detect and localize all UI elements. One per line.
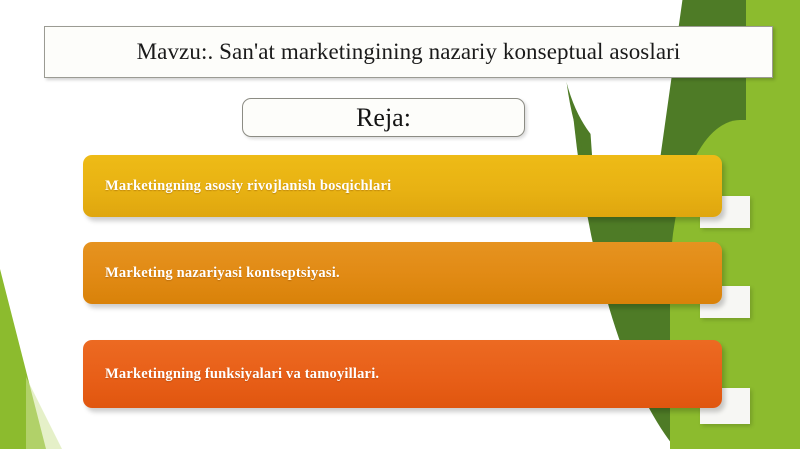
agenda-item-label: Marketing nazariyasi kontseptsiyasi. <box>83 265 340 282</box>
agenda-item-bar: Marketingning asosiy rivojlanish bosqich… <box>83 155 722 217</box>
agenda-item-label: Marketingning asosiy rivojlanish bosqich… <box>83 178 391 195</box>
agenda-item-bar: Marketingning funksiyalari va tamoyillar… <box>83 340 722 408</box>
green-corner-shadow-decoration <box>26 329 62 449</box>
presentation-slide: Mavzu:. San'at marketingining nazariy ko… <box>0 0 800 449</box>
green-corner-triangle-decoration <box>0 269 46 449</box>
agenda-item-bar: Marketing nazariyasi kontseptsiyasi. <box>83 242 722 304</box>
agenda-heading-box: Reja: <box>242 98 525 137</box>
slide-title-box: Mavzu:. San'at marketingining nazariy ko… <box>44 26 773 78</box>
slide-title-text: Mavzu:. San'at marketingining nazariy ko… <box>137 39 681 65</box>
agenda-heading-text: Reja: <box>356 103 411 133</box>
agenda-item-label: Marketingning funksiyalari va tamoyillar… <box>83 366 379 383</box>
